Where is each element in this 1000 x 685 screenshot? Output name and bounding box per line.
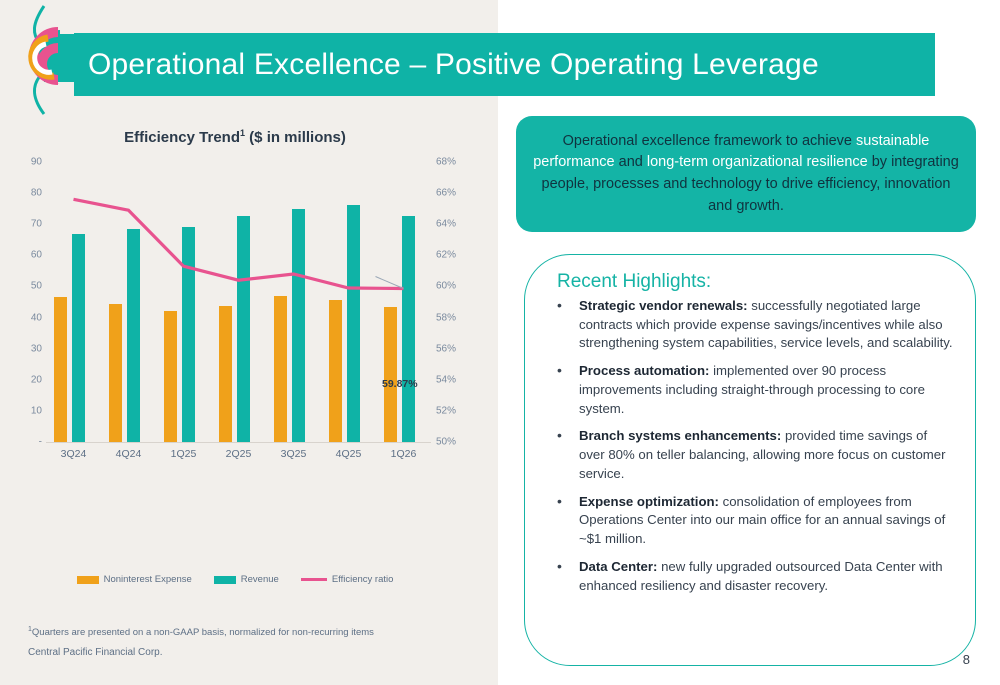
- chart-title-main: Efficiency Trend: [124, 129, 240, 146]
- footnote-text: Quarters are presented on a non-GAAP bas…: [32, 627, 374, 638]
- recent-highlights-list: Strategic vendor renewals: successfully …: [549, 297, 953, 595]
- chart-title-suffix: ($ in millions): [245, 129, 346, 146]
- y-axis-tick: 40: [31, 312, 42, 323]
- x-axis-tick: 3Q24: [46, 448, 101, 460]
- legend-swatch: [77, 576, 99, 584]
- recent-highlights-box: Recent Highlights: Strategic vendor rene…: [524, 254, 976, 666]
- y-axis-tick: 30: [31, 343, 42, 354]
- highlight-bullet-lead: Data Center:: [579, 559, 657, 574]
- highlight-bullet-lead: Process automation:: [579, 363, 709, 378]
- x-axis-tick: 1Q25: [156, 448, 211, 460]
- y2-axis-tick: 52%: [436, 405, 456, 416]
- y2-axis-tick: 50%: [436, 437, 456, 448]
- footnotes: 1Quarters are presented on a non-GAAP ba…: [28, 626, 374, 658]
- highlight-bullet: Expense optimization: consolidation of e…: [549, 493, 953, 549]
- x-axis-tick: 1Q26: [376, 448, 431, 460]
- highlight-bullet-lead: Expense optimization:: [579, 494, 719, 509]
- chart-title: Efficiency Trend1 ($ in millions): [0, 128, 470, 146]
- legend-item: Revenue: [214, 574, 279, 585]
- efficiency-trend-chart: Efficiency Trend1 ($ in millions) 908070…: [0, 122, 498, 472]
- efficiency-ratio-polyline: [74, 199, 404, 288]
- chart-y-axis-left: 908070605040302010-: [12, 162, 42, 442]
- y2-axis-tick: 60%: [436, 281, 456, 292]
- y2-axis-tick: 56%: [436, 343, 456, 354]
- highlight-bullet-lead: Strategic vendor renewals:: [579, 298, 748, 313]
- y-axis-tick: 20: [31, 374, 42, 385]
- y-axis-tick: 10: [31, 405, 42, 416]
- x-axis-tick: 2Q25: [211, 448, 266, 460]
- legend-swatch: [214, 576, 236, 584]
- framework-callout-text: Operational excellence framework to achi…: [532, 131, 960, 218]
- legend-line-marker: [301, 578, 327, 581]
- y-axis-tick: 50: [31, 281, 42, 292]
- callout-plain-text: and: [615, 154, 647, 170]
- footnote-non-gaap: 1Quarters are presented on a non-GAAP ba…: [28, 626, 374, 638]
- y2-axis-tick: 66%: [436, 188, 456, 199]
- legend-label: Efficiency ratio: [332, 574, 394, 585]
- x-axis-tick: 3Q25: [266, 448, 321, 460]
- highlight-bullet-lead: Branch systems enhancements:: [579, 428, 781, 443]
- efficiency-ratio-line: [46, 162, 431, 442]
- highlight-bullet: Data Center: new fully upgraded outsourc…: [549, 558, 953, 595]
- y-axis-tick: 60: [31, 250, 42, 261]
- callout-plain-text: Operational excellence framework to achi…: [563, 133, 856, 149]
- y2-axis-tick: 68%: [436, 157, 456, 168]
- legend-item: Efficiency ratio: [301, 574, 394, 585]
- y-axis-tick: -: [39, 437, 42, 448]
- chart-y-axis-right: 68%66%64%62%60%58%56%54%52%50%: [432, 162, 472, 442]
- y2-axis-tick: 64%: [436, 219, 456, 230]
- y-axis-tick: 70: [31, 219, 42, 230]
- highlight-bullet: Process automation: implemented over 90 …: [549, 362, 953, 418]
- highlight-bullet: Strategic vendor renewals: successfully …: [549, 297, 953, 353]
- page-number: 8: [963, 652, 970, 667]
- framework-callout-box: Operational excellence framework to achi…: [516, 116, 976, 232]
- company-name: Central Pacific Financial Corp.: [28, 647, 374, 658]
- y2-axis-tick: 54%: [436, 374, 456, 385]
- y2-axis-tick: 62%: [436, 250, 456, 261]
- x-axis-tick: 4Q25: [321, 448, 376, 460]
- y-axis-tick: 80: [31, 188, 42, 199]
- legend-label: Noninterest Expense: [104, 574, 192, 585]
- legend-label: Revenue: [241, 574, 279, 585]
- efficiency-ratio-data-label: 59.87%: [382, 378, 418, 390]
- y2-axis-tick: 58%: [436, 312, 456, 323]
- highlight-bullet: Branch systems enhancements: provided ti…: [549, 427, 953, 483]
- x-axis-tick: 4Q24: [101, 448, 156, 460]
- chart-legend: Noninterest ExpenseRevenueEfficiency rat…: [0, 574, 470, 585]
- y-axis-tick: 90: [31, 157, 42, 168]
- slide-title-bar: Operational Excellence – Positive Operat…: [74, 33, 935, 96]
- legend-item: Noninterest Expense: [77, 574, 192, 585]
- page-title: Operational Excellence – Positive Operat…: [74, 48, 819, 82]
- chart-baseline: [46, 442, 431, 443]
- callout-highlight-text: long-term organizational resilience: [647, 154, 868, 170]
- recent-highlights-title: Recent Highlights:: [557, 271, 953, 293]
